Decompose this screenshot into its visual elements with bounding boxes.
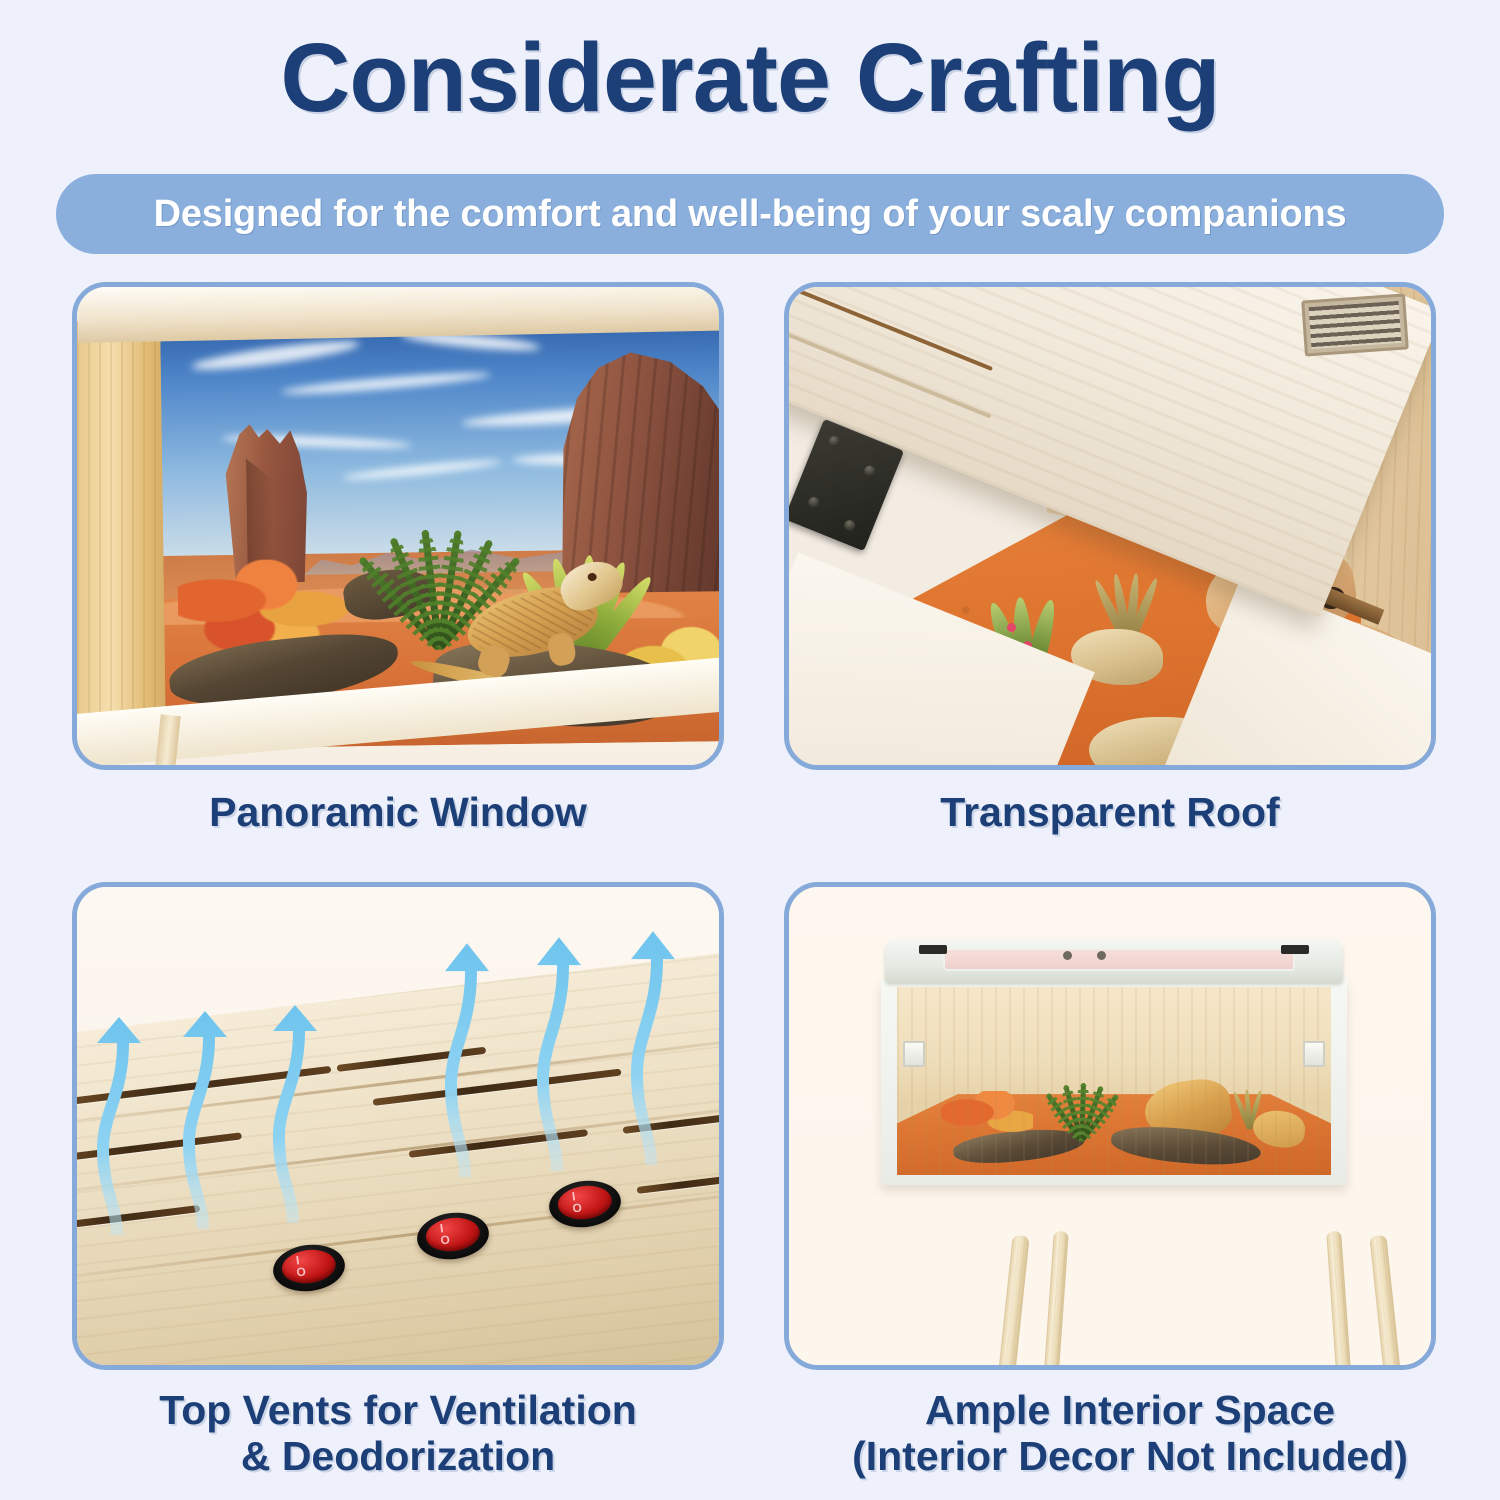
sand-substrate: [897, 1089, 1331, 1175]
caption-panoramic-window: Panoramic Window: [72, 790, 724, 836]
top-hole: [1063, 951, 1072, 960]
airflow-arrow-icon: [267, 973, 323, 1223]
ample-interior-photo: [789, 887, 1431, 1365]
palm-frond: [1045, 1093, 1083, 1143]
bearded-dragon-figure-2: [1251, 1108, 1306, 1149]
airflow-arrow-icon: [177, 979, 233, 1229]
switch-marking-off: O: [296, 1265, 307, 1278]
side-vent-left: [903, 1041, 925, 1067]
bearded-dragon-figure: [1141, 1075, 1234, 1144]
switch-marking-off: O: [440, 1233, 451, 1246]
caption-ample-interior: Ample Interior Space (Interior Decor Not…: [774, 1388, 1486, 1480]
hinge-screw: [862, 464, 876, 478]
dragon-eye: [588, 573, 597, 581]
hinge-screw: [827, 434, 841, 448]
page-title: Considerate Crafting: [0, 22, 1500, 134]
palm-frond: [1080, 1094, 1120, 1143]
top-vent-left: [919, 945, 947, 954]
switch-cap: [280, 1247, 338, 1286]
grass-blade: [1244, 1089, 1252, 1129]
palm-plant: [1037, 1069, 1121, 1141]
driftwood-right: [1110, 1123, 1262, 1170]
infographic-page: Considerate Crafting Designed for the co…: [0, 0, 1500, 1500]
caption-line-2: & Deodorization: [42, 1434, 754, 1480]
palm-frond: [1079, 1083, 1086, 1141]
cabinet-interior: [897, 987, 1331, 1175]
top-hole: [1097, 951, 1106, 960]
side-vent-right: [1303, 1041, 1325, 1067]
switch-cap: [556, 1183, 614, 1222]
caption-line-1: Top Vents for Ventilation: [42, 1388, 754, 1434]
palm-frond: [1079, 1086, 1104, 1142]
palm-frond: [1063, 1085, 1084, 1142]
caption-line-2: (Interior Decor Not Included): [774, 1434, 1486, 1480]
vent-grille-icon: [1301, 293, 1409, 356]
subtitle-banner: Designed for the comfort and well-being …: [56, 174, 1444, 254]
top-vent-right: [1281, 945, 1309, 954]
subtitle-text: Designed for the comfort and well-being …: [154, 193, 1347, 236]
panel-top-vents: I O I O I O: [72, 882, 724, 1370]
hinge-screw: [843, 518, 857, 532]
coral-decor: [941, 1091, 1033, 1145]
airflow-arrow-icon: [531, 903, 587, 1171]
panel-ample-interior: [784, 882, 1436, 1370]
cabinet-side-post: [77, 321, 173, 721]
grass-tuft-decor: [1227, 1085, 1267, 1129]
caption-line-1: Ample Interior Space: [774, 1388, 1486, 1434]
interior-decor-group: [897, 1073, 1331, 1169]
terrarium-cabinet: [881, 939, 1347, 1191]
transparent-roof-photo: [789, 287, 1431, 765]
caption-transparent-roof: Transparent Roof: [784, 790, 1436, 836]
cabinet-top-lid: [885, 939, 1343, 983]
cabinet-body: [881, 979, 1347, 1185]
grass-blade: [1247, 1090, 1263, 1130]
cactus-flower: [1007, 623, 1016, 632]
top-vents-photo: I O I O I O: [77, 887, 719, 1365]
airflow-arrow-icon: [91, 985, 147, 1235]
switch-cap: [424, 1215, 482, 1254]
panoramic-window-photo: [77, 287, 719, 765]
airflow-arrow-icon: [625, 897, 681, 1165]
transparent-roof-glass: [943, 948, 1295, 971]
airflow-arrow-icon: [439, 909, 495, 1177]
hinge-screw: [807, 495, 821, 509]
panel-panoramic-window: [72, 282, 724, 770]
panel-transparent-roof: [784, 282, 1436, 770]
driftwood-left: [952, 1124, 1086, 1168]
grass-blade: [1232, 1091, 1252, 1130]
switch-marking-off: O: [572, 1201, 583, 1214]
caption-top-vents: Top Vents for Ventilation & Deodorizatio…: [42, 1388, 754, 1480]
